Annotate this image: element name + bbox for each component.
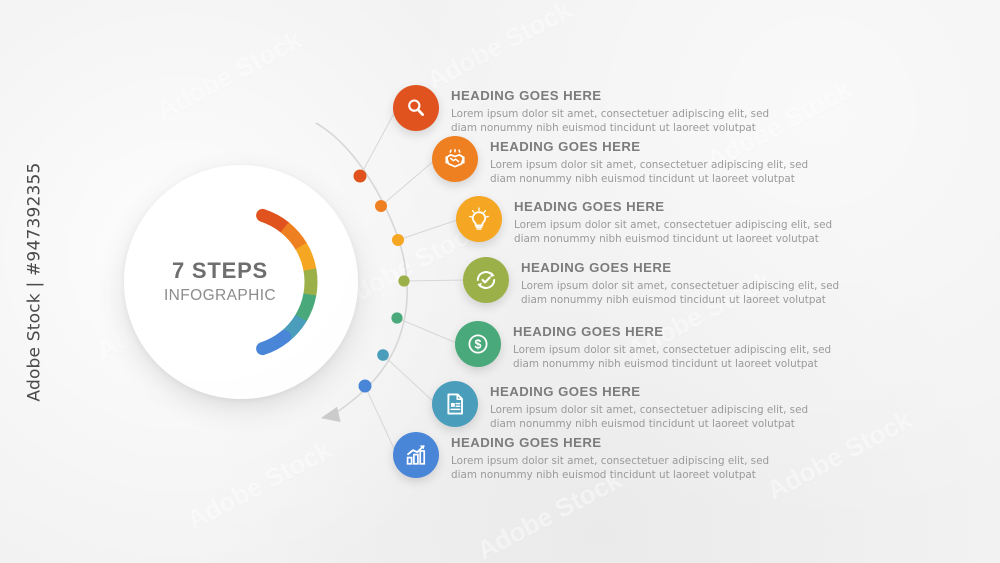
step-body-line2: diam nonummy nibh euismod tincidunt ut l…	[521, 293, 839, 307]
step-body-line2: diam nonummy nibh euismod tincidunt ut l…	[451, 468, 769, 482]
step-body-line2: diam nonummy nibh euismod tincidunt ut l…	[490, 172, 808, 186]
step-body: Lorem ipsum dolor sit amet, consectetuer…	[521, 279, 839, 307]
branch-line-3	[398, 219, 460, 240]
svg-text:$: $	[475, 338, 482, 352]
branch-line-4	[404, 280, 467, 281]
step-body-line1: Lorem ipsum dolor sit amet, consectetuer…	[490, 158, 808, 172]
step-body-line2: diam nonummy nibh euismod tincidunt ut l…	[490, 417, 808, 431]
step-body: Lorem ipsum dolor sit amet, consectetuer…	[513, 343, 831, 371]
search-icon[interactable]	[393, 85, 439, 131]
dollar-coin-icon[interactable]: $	[455, 321, 501, 367]
step-5[interactable]: $HEADING GOES HERELorem ipsum dolor sit …	[455, 321, 831, 371]
node-dot-3[interactable]	[392, 234, 404, 246]
watermark-tile: Adobe Stock	[422, 0, 577, 96]
node-dot-4[interactable]	[398, 275, 409, 286]
step-body-line1: Lorem ipsum dolor sit amet, consectetuer…	[521, 279, 839, 293]
step-6[interactable]: HEADING GOES HERELorem ipsum dolor sit a…	[432, 381, 808, 431]
step-body: Lorem ipsum dolor sit amet, consectetuer…	[490, 158, 808, 186]
arrow-head-icon	[321, 404, 344, 423]
step-body: Lorem ipsum dolor sit amet, consectetuer…	[514, 218, 832, 246]
branch-line-5	[397, 318, 459, 344]
step-body-line2: diam nonummy nibh euismod tincidunt ut l…	[514, 232, 832, 246]
bar-chart-growth-icon[interactable]	[393, 432, 439, 478]
step-body-line1: Lorem ipsum dolor sit amet, consectetuer…	[490, 403, 808, 417]
step-4[interactable]: HEADING GOES HERELorem ipsum dolor sit a…	[463, 257, 839, 307]
watermark-text: Adobe Stock | #947392355	[25, 162, 45, 401]
step-heading: HEADING GOES HERE	[513, 324, 831, 339]
step-text-block: HEADING GOES HERELorem ipsum dolor sit a…	[513, 321, 831, 371]
step-body-line1: Lorem ipsum dolor sit amet, consectetuer…	[513, 343, 831, 357]
step-1[interactable]: HEADING GOES HERELorem ipsum dolor sit a…	[393, 85, 769, 135]
step-heading: HEADING GOES HERE	[451, 88, 769, 103]
step-text-block: HEADING GOES HERELorem ipsum dolor sit a…	[451, 85, 769, 135]
step-body: Lorem ipsum dolor sit amet, consectetuer…	[451, 107, 769, 135]
step-heading: HEADING GOES HERE	[451, 435, 769, 450]
infographic-canvas: Adobe StockAdobe StockAdobe StockAdobe S…	[0, 0, 1000, 563]
branch-line-1	[360, 108, 397, 176]
step-body-line1: Lorem ipsum dolor sit amet, consectetuer…	[514, 218, 832, 232]
center-circle: 7 STEPS INFOGRAPHIC	[124, 165, 358, 399]
step-heading: HEADING GOES HERE	[521, 260, 839, 275]
lightbulb-icon[interactable]	[456, 196, 502, 242]
step-text-block: HEADING GOES HERELorem ipsum dolor sit a…	[451, 432, 769, 482]
node-dot-7[interactable]	[359, 380, 372, 393]
handshake-icon[interactable]	[432, 136, 478, 182]
step-2[interactable]: HEADING GOES HERELorem ipsum dolor sit a…	[432, 136, 808, 186]
watermark-tile: Adobe Stock	[152, 25, 307, 127]
node-dot-2[interactable]	[375, 200, 387, 212]
step-text-block: HEADING GOES HERELorem ipsum dolor sit a…	[490, 136, 808, 186]
step-text-block: HEADING GOES HERELorem ipsum dolor sit a…	[521, 257, 839, 307]
step-heading: HEADING GOES HERE	[490, 384, 808, 399]
center-subtitle: INFOGRAPHIC	[164, 287, 276, 305]
branch-line-6	[383, 355, 436, 404]
document-icon[interactable]	[432, 381, 478, 427]
step-body-line2: diam nonummy nibh euismod tincidunt ut l…	[451, 121, 769, 135]
refresh-check-icon[interactable]	[463, 257, 509, 303]
watermark: Adobe Stock | #947392355	[12, 0, 58, 563]
step-heading: HEADING GOES HERE	[514, 199, 832, 214]
node-dot-5[interactable]	[391, 312, 402, 323]
node-dot-1[interactable]	[354, 170, 367, 183]
step-text-block: HEADING GOES HERELorem ipsum dolor sit a…	[490, 381, 808, 431]
step-body-line1: Lorem ipsum dolor sit amet, consectetuer…	[451, 454, 769, 468]
center-title: 7 STEPS	[172, 259, 268, 283]
step-7[interactable]: HEADING GOES HERELorem ipsum dolor sit a…	[393, 432, 769, 482]
branch-line-2	[381, 159, 436, 206]
node-dot-6[interactable]	[377, 349, 389, 361]
step-body: Lorem ipsum dolor sit amet, consectetuer…	[451, 454, 769, 482]
step-body-line2: diam nonummy nibh euismod tincidunt ut l…	[513, 357, 831, 371]
step-3[interactable]: HEADING GOES HERELorem ipsum dolor sit a…	[456, 196, 832, 246]
step-body-line1: Lorem ipsum dolor sit amet, consectetuer…	[451, 107, 769, 121]
watermark-tile: Adobe Stock	[182, 435, 337, 537]
step-heading: HEADING GOES HERE	[490, 139, 808, 154]
step-body: Lorem ipsum dolor sit amet, consectetuer…	[490, 403, 808, 431]
step-text-block: HEADING GOES HERELorem ipsum dolor sit a…	[514, 196, 832, 246]
